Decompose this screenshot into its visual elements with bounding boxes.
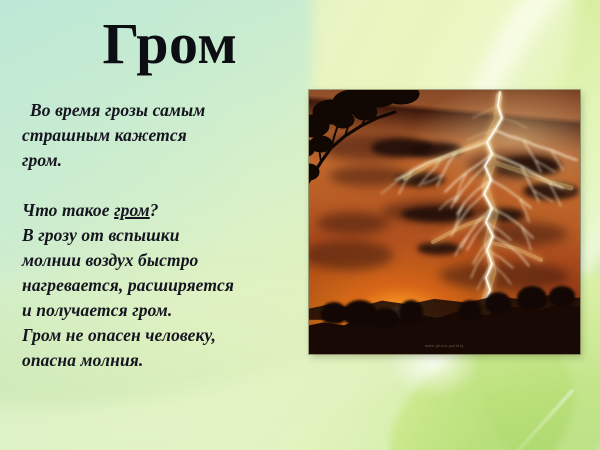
question-keyword: гром: [114, 200, 150, 220]
slide-body-text: Во время грозы самым страшным кажется гр…: [22, 98, 312, 373]
photo-watermark: www.photo-gallery: [425, 344, 464, 348]
body-line: Во время грозы самым: [22, 98, 312, 123]
foreground-shrub: [517, 286, 547, 310]
body-line: и получается гром.: [22, 298, 312, 323]
body-line: Гром не опасен человеку,: [22, 323, 312, 348]
slide-title: Гром: [0, 14, 600, 75]
body-line: В грозу от вспышки: [22, 223, 312, 248]
body-line: нагревается, расширяется: [22, 273, 312, 298]
foreground-shrub: [459, 300, 481, 320]
foreground-shrub: [371, 308, 399, 328]
paragraph-spacer: [22, 173, 312, 198]
body-line: страшным кажется: [22, 123, 312, 148]
lightning-photo: www.photo-gallery: [309, 90, 580, 354]
foreground-shrub: [399, 300, 423, 324]
question-prefix: Что такое: [22, 200, 114, 220]
body-line: молнии воздух быстро: [22, 248, 312, 273]
tree-silhouette-icon: [309, 90, 425, 206]
body-line: опасна молния.: [22, 348, 312, 373]
presentation-slide: Гром Во время грозы самым страшным кажет…: [0, 0, 600, 450]
question-suffix: ?: [150, 200, 159, 220]
foreground-shrub: [549, 286, 575, 306]
body-question-line: Что такое гром?: [22, 198, 312, 223]
body-line: гром.: [22, 148, 312, 173]
foreground-shrub: [485, 292, 511, 314]
